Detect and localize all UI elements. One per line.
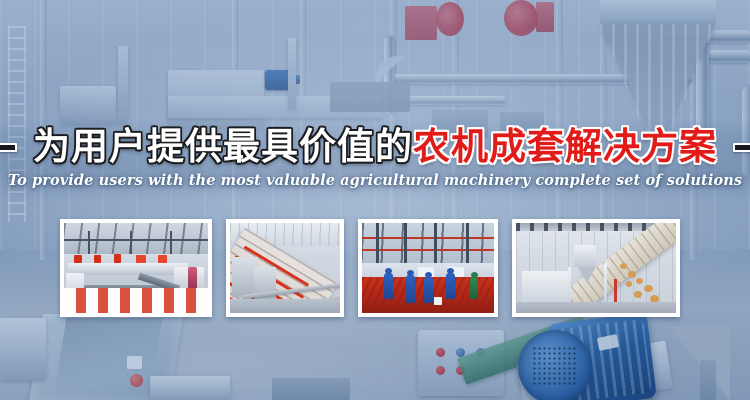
worker <box>424 277 433 303</box>
roof-beam <box>64 239 208 241</box>
thumbnail-strip <box>60 219 690 317</box>
red-equipment <box>94 255 101 263</box>
headline-primary: 为用户提供最具价值的 <box>33 125 413 168</box>
red-equipment <box>74 255 82 263</box>
thumbnail-item[interactable] <box>226 219 344 317</box>
left-dash-decoration <box>0 143 17 152</box>
product-piece <box>628 271 636 278</box>
roof-structure <box>362 223 494 263</box>
subtitle: To provide users with the most valuable … <box>0 172 750 189</box>
headline-highlight: 农机成套解决方案 <box>413 125 717 168</box>
worker <box>446 273 455 299</box>
product-piece <box>644 285 653 292</box>
thumbnail-item[interactable] <box>358 219 498 317</box>
red-roof-beam <box>362 237 494 239</box>
background-photo <box>0 0 750 400</box>
worker <box>406 275 415 303</box>
thumbnail-image-inclined-conveyor-peppers <box>230 223 340 313</box>
red-equipment <box>158 255 167 263</box>
red-roof-beam <box>362 249 494 251</box>
product-piece <box>634 291 642 298</box>
red-equipment <box>114 254 121 263</box>
promo-banner: 为用户提供最具价值的农机成套解决方案 To provide users with… <box>0 0 750 400</box>
product-piece <box>620 263 627 269</box>
worker <box>470 277 478 299</box>
worker <box>384 273 393 299</box>
thumbnail-item[interactable] <box>512 219 680 317</box>
headline: 为用户提供最具价值的农机成套解决方案 <box>0 124 750 170</box>
product-piece <box>626 281 632 287</box>
floor <box>230 299 340 313</box>
thumbnail-image-conveyor-dried-product <box>516 223 676 313</box>
product-trays <box>64 288 208 313</box>
machine-row <box>68 263 188 275</box>
red-equipment <box>136 255 146 263</box>
thumbnail-image-factory-processing-line <box>64 223 208 313</box>
thumbnail-item[interactable] <box>60 219 212 317</box>
right-dash-decoration <box>733 143 750 152</box>
feed-unit <box>574 245 596 267</box>
product-bag <box>434 297 442 305</box>
headline-text: 为用户提供最具价值的农机成套解决方案 <box>33 124 717 170</box>
floor <box>516 302 676 313</box>
product-piece <box>636 278 643 284</box>
feed-hopper <box>578 267 596 283</box>
thumbnail-image-workers-sorting-chilies <box>362 223 494 313</box>
